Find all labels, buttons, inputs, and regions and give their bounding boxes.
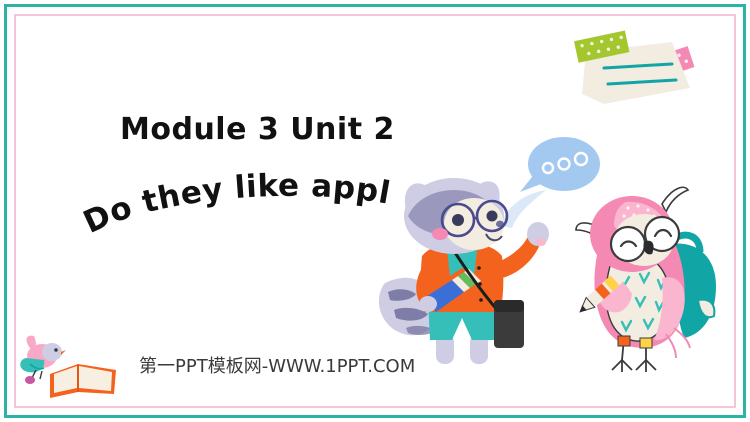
page-title: Module 3 Unit 2 [120,112,395,147]
svg-text:Do they like apples?: Do they like apples? [75,160,393,241]
raccoon-satchel [494,300,524,348]
raccoon-paw-holding [419,296,437,312]
owl-student-character [566,182,732,374]
subtitle-text: Do they like apples? [75,160,393,241]
raccoon-cheek [432,228,448,240]
bird-with-open-book [16,330,128,402]
open-book [50,364,116,398]
raccoon-head [404,178,507,254]
watermark-text: 第一PPT模板网-WWW.1PPT.COM [139,352,415,378]
slide-canvas: Module 3 Unit 2 Do they like apples? 第一P… [0,0,750,422]
page-subtitle: Do they like apples? [86,188,406,248]
taped-paper-note [560,22,700,114]
